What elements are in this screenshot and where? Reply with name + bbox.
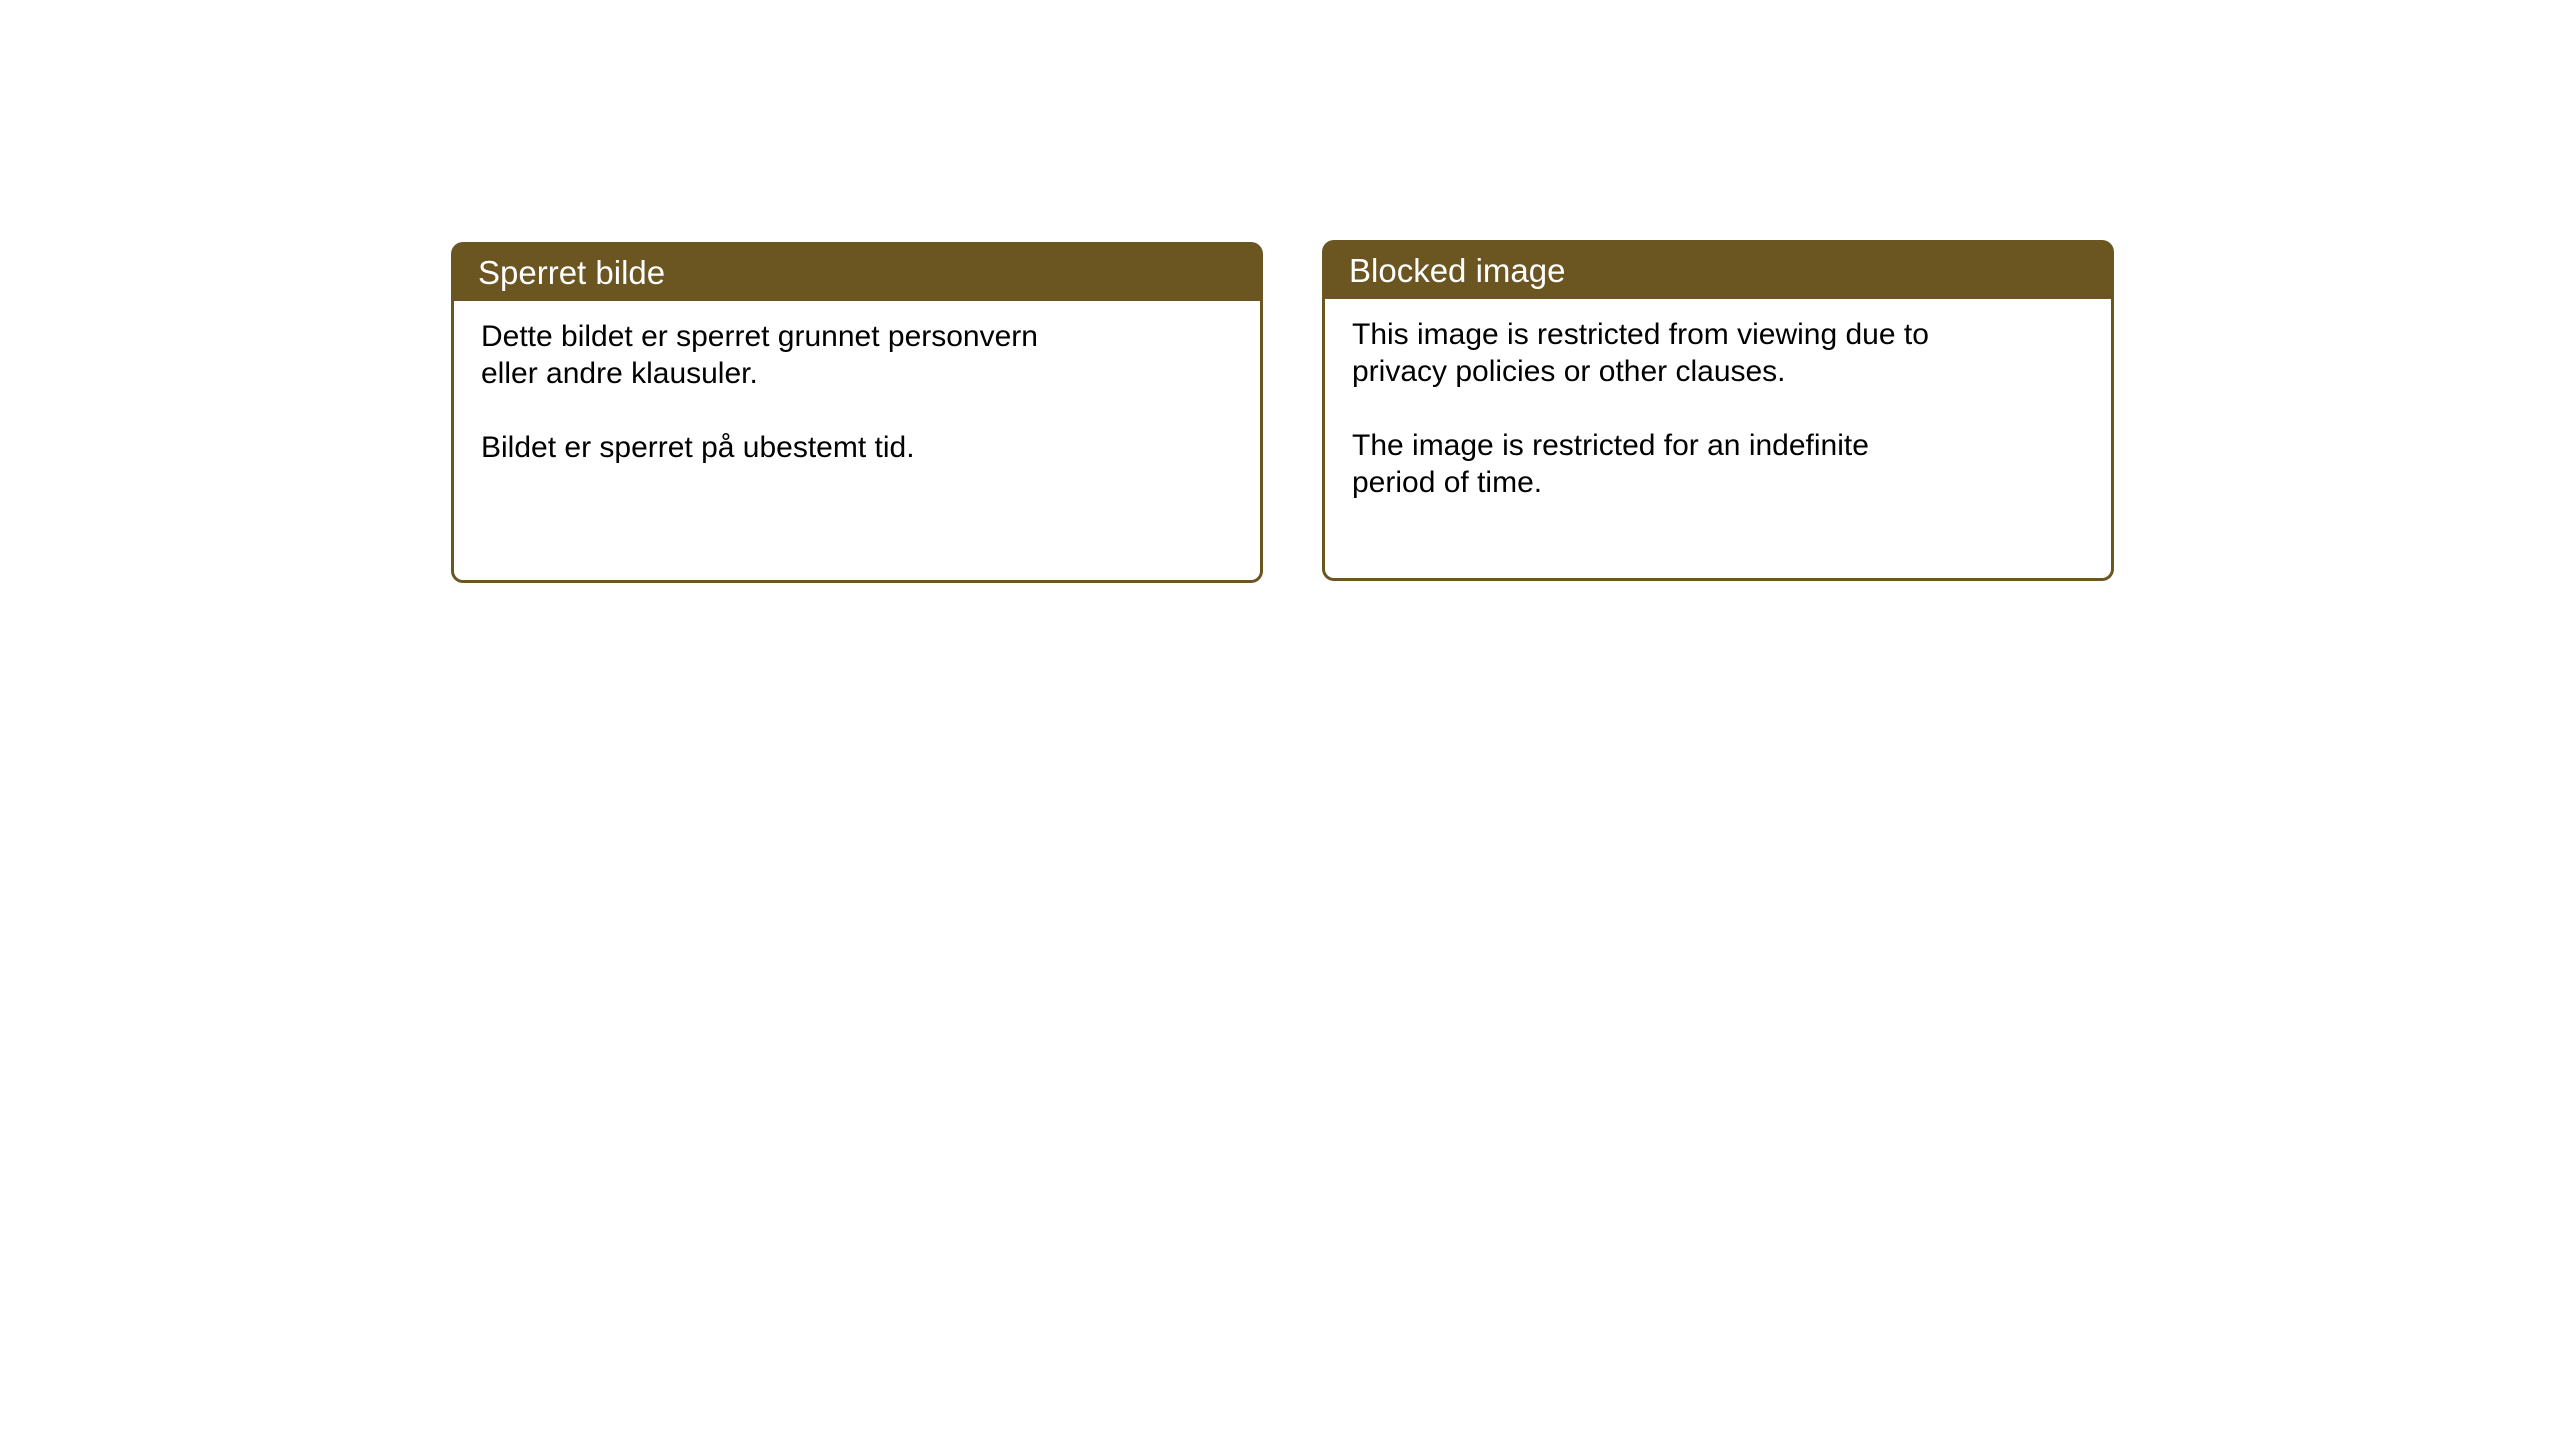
card-title-english: Blocked image [1349, 252, 1565, 290]
card-paragraph-english-2: The image is restricted for an indefinit… [1352, 427, 1952, 501]
card-header-english: Blocked image [1322, 240, 2114, 300]
card-header-norwegian: Sperret bilde [451, 242, 1263, 302]
card-title-norwegian: Sperret bilde [478, 254, 665, 292]
blocked-image-notice-stage: Sperret bilde Dette bildet er sperret gr… [0, 0, 2560, 1440]
card-paragraph-norwegian-1: Dette bildet er sperret grunnet personve… [481, 318, 1081, 392]
card-body-inner-norwegian: Dette bildet er sperret grunnet personve… [481, 318, 1242, 466]
card-body-inner-english: This image is restricted from viewing du… [1352, 316, 2093, 501]
blocked-image-card-english: Blocked image This image is restricted f… [1322, 240, 2114, 581]
card-paragraph-norwegian-2: Bildet er sperret på ubestemt tid. [481, 429, 1081, 466]
card-paragraph-english-1: This image is restricted from viewing du… [1352, 316, 1952, 390]
card-body-norwegian: Dette bildet er sperret grunnet personve… [451, 301, 1263, 583]
card-body-english: This image is restricted from viewing du… [1322, 299, 2114, 581]
blocked-image-card-norwegian: Sperret bilde Dette bildet er sperret gr… [451, 242, 1263, 583]
